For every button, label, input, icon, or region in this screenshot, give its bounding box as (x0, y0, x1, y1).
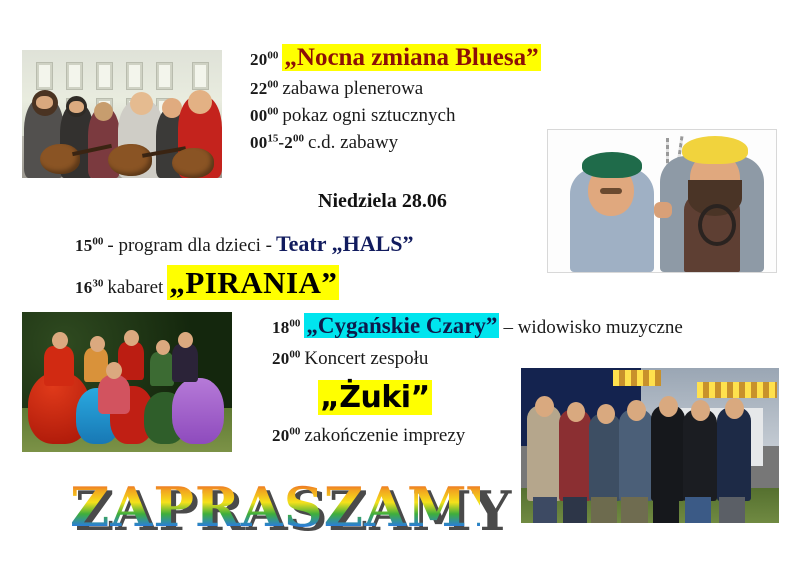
row-time: 15 (75, 236, 92, 255)
row-time: 20 (272, 349, 289, 368)
row-time-sup: 00 (289, 349, 300, 361)
row-desc: kabaret (107, 277, 163, 298)
schedule-row-koncert: 2000 Koncert zespołu (272, 348, 428, 370)
schedule-row-nocna-zmiana: 2000 „Nocna zmiana Bluesa” (250, 44, 541, 72)
row-time: 22 (250, 79, 267, 98)
schedule-row-pirania: 1630 kabaret „PIRANIA” (75, 265, 339, 301)
zapraszamy-fill: ZAPRASZAMY (70, 478, 480, 536)
row-desc: - program dla dzieci - (107, 235, 272, 256)
schedule-row-zuki: „Żuki” (318, 380, 432, 415)
row-time-sup: 00 (267, 50, 278, 62)
schedule-row-ognie: 0000 pokaz ogni sztucznych (250, 105, 455, 127)
row-time: 18 (272, 318, 289, 337)
row-time: 00 (250, 106, 267, 125)
photo-blues-band (22, 50, 222, 178)
schedule-row-cyganskie-czary: 1800 „Cygańskie Czary” – widowisko muzyc… (272, 313, 683, 339)
highlight-pirania: „PIRANIA” (167, 265, 339, 300)
schedule-row-cd-zabawy: 0015-200 c.d. zabawy (250, 132, 398, 154)
row-time-2: -2 (278, 133, 293, 152)
row-time-sup: 00 (289, 426, 300, 438)
highlight-zuki: „Żuki” (318, 380, 432, 415)
row-time: 20 (250, 50, 267, 69)
highlight-teatr-hals: Teatr „HALS” (276, 231, 414, 256)
event-poster: 2000 „Nocna zmiana Bluesa” 2200 zabawa p… (0, 0, 800, 564)
row-time-sup: 00 (267, 106, 278, 118)
photo-gypsy-dancers (22, 312, 232, 452)
row-time-2-sup: 00 (293, 133, 304, 145)
zapraszamy-wordmark: ZAPRASZAMY ZAPRASZAMY (70, 478, 480, 536)
row-desc-tail: – widowisko muzyczne (503, 317, 682, 338)
row-desc: zakończenie imprezy (304, 425, 465, 446)
row-time-sup: 00 (92, 236, 103, 248)
row-desc: c.d. zabawy (308, 132, 398, 153)
row-time: 16 (75, 278, 92, 297)
row-time-sup: 15 (267, 133, 278, 145)
sunday-date-header: Niedziela 28.06 (318, 190, 447, 213)
schedule-row-zabawa: 2200 zabawa plenerowa (250, 78, 423, 100)
row-time-sup: 30 (92, 278, 103, 290)
schedule-row-zakonczenie: 2000 zakończenie imprezy (272, 425, 465, 447)
row-desc: Koncert zespołu (304, 348, 428, 369)
photo-cabaret-duo (547, 129, 777, 273)
row-time-sup: 00 (267, 79, 278, 91)
row-time: 00 (250, 133, 267, 152)
highlight-nocna-zmiana: „Nocna zmiana Bluesa” (282, 44, 540, 71)
row-desc: pokaz ogni sztucznych (282, 105, 455, 126)
photo-zuki-band (521, 368, 779, 523)
highlight-cyganskie-czary: „Cygańskie Czary” (304, 313, 499, 338)
row-time-sup: 00 (289, 318, 300, 330)
row-time: 20 (272, 426, 289, 445)
schedule-row-teatr-hals: 1500 - program dla dzieci - Teatr „HALS” (75, 231, 414, 257)
row-desc: zabawa plenerowa (282, 78, 423, 99)
